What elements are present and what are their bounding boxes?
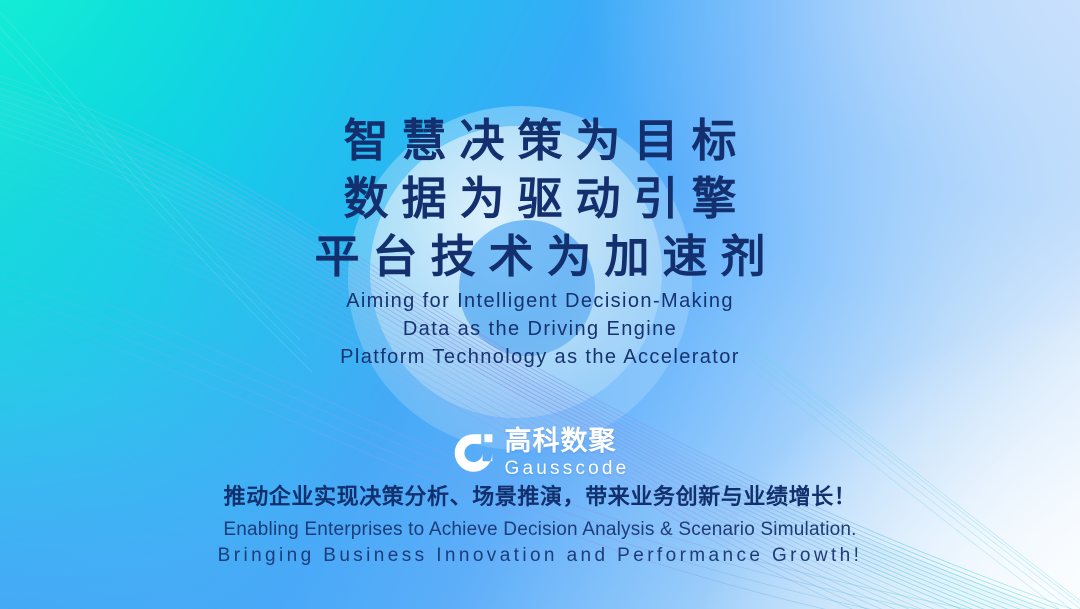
subtitle-line-1: Aiming for Intelligent Decision-Making <box>0 287 1080 315</box>
footer-tagline-cn: 推动企业实现决策分析、场景推演，带来业务创新与业绩增长！ <box>0 481 1080 513</box>
gausscode-g-mark-icon <box>451 431 495 475</box>
subtitle-block: Aiming for Intelligent Decision-Making D… <box>0 287 1080 371</box>
brand-wordmarks: 高科数聚 Gausscode <box>505 428 630 478</box>
headline-line-3: 平台技术为加速剂 <box>0 228 1080 286</box>
headline-line-1: 智慧决策为目标 <box>0 112 1080 170</box>
footer-block: 推动企业实现决策分析、场景推演，带来业务创新与业绩增长！ Enabling En… <box>0 481 1080 569</box>
headline-line-2: 数据为驱动引擎 <box>0 170 1080 228</box>
subtitle-line-2: Data as the Driving Engine <box>0 315 1080 343</box>
footer-tagline-en-line-1: Enabling Enterprises to Achieve Decision… <box>0 517 1080 543</box>
subtitle-line-3: Platform Technology as the Accelerator <box>0 343 1080 371</box>
footer-tagline-en-line-2: Bringing Business Innovation and Perform… <box>0 543 1080 569</box>
brand-logo-lockup: 高科数聚 Gausscode <box>0 428 1080 478</box>
slide-canvas: 智慧决策为目标 数据为驱动引擎 平台技术为加速剂 Aiming for Inte… <box>0 0 1080 609</box>
brand-name-en: Gausscode <box>505 459 630 478</box>
headline-block: 智慧决策为目标 数据为驱动引擎 平台技术为加速剂 <box>0 112 1080 286</box>
brand-name-cn: 高科数聚 <box>505 428 630 455</box>
